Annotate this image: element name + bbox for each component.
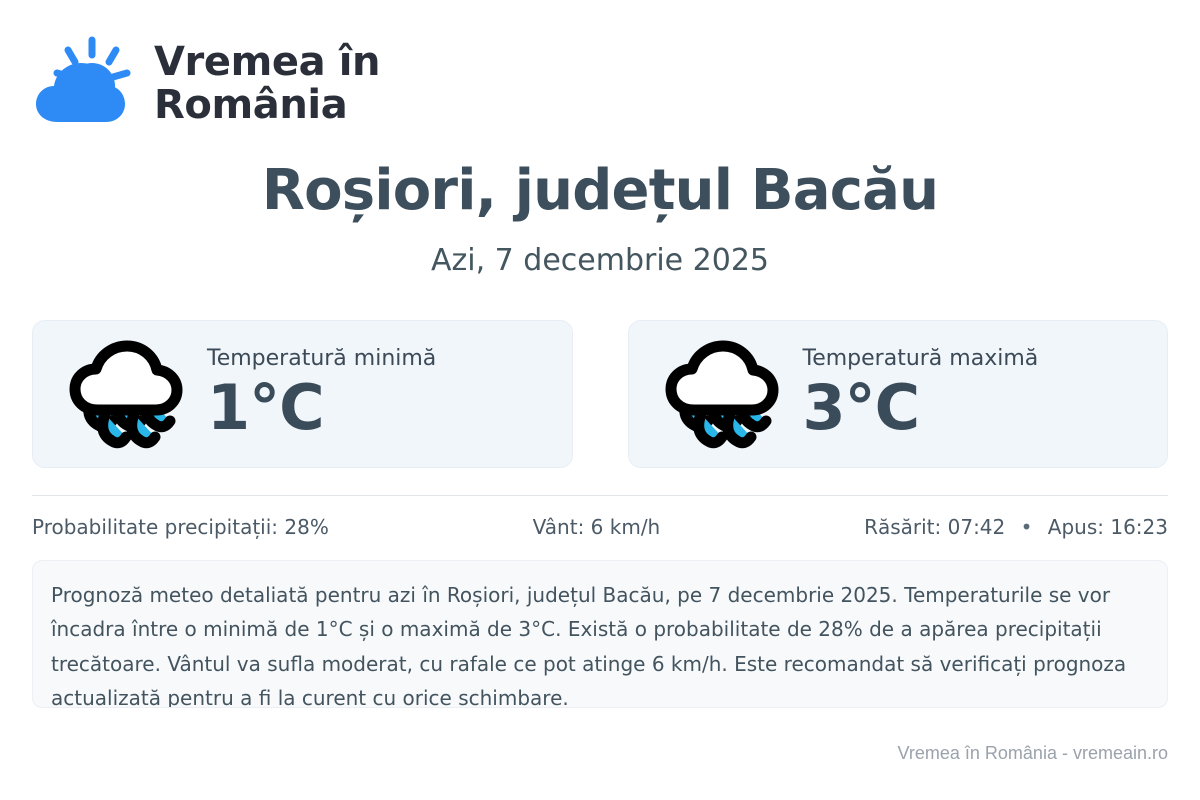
min-temperature-value: 1°C	[207, 375, 436, 442]
brand-name: Vremea în România	[154, 41, 380, 127]
max-temperature-label: Temperatură maximă	[803, 346, 1039, 372]
brand-header: Vremea în România	[32, 0, 1168, 120]
sun-separator: •	[1021, 515, 1033, 539]
wind-stat: Vânt: 6 km/h	[329, 515, 864, 539]
sunset-time: Apus: 16:23	[1048, 515, 1168, 539]
rain-cloud-icon	[663, 338, 781, 450]
temperature-cards: Temperatură minimă 1°C Temperatură maxim…	[32, 320, 1168, 468]
page-subtitle: Azi, 7 decembrie 2025	[32, 243, 1168, 278]
min-temperature-text: Temperatură minimă 1°C	[207, 346, 436, 441]
min-temperature-card: Temperatură minimă 1°C	[32, 320, 573, 468]
weather-page: Vremea în România Roșiori, județul Bacău…	[0, 0, 1200, 800]
sun-times-stat: Răsărit: 07:42 • Apus: 16:23	[864, 515, 1168, 539]
max-temperature-value: 3°C	[803, 375, 1039, 442]
section-divider	[32, 495, 1168, 496]
sunrise-time: Răsărit: 07:42	[864, 515, 1005, 539]
sun-behind-cloud-icon	[32, 36, 136, 132]
min-temperature-label: Temperatură minimă	[207, 346, 436, 372]
max-temperature-card: Temperatură maximă 3°C	[628, 320, 1169, 468]
rain-cloud-icon	[67, 338, 185, 450]
forecast-description: Prognoză meteo detaliată pentru azi în R…	[32, 560, 1168, 708]
page-title: Roșiori, județul Bacău	[32, 162, 1168, 221]
precipitation-stat: Probabilitate precipitații: 28%	[32, 515, 329, 539]
footer-attribution: Vremea în România - vremeain.ro	[898, 743, 1168, 764]
max-temperature-text: Temperatură maximă 3°C	[803, 346, 1039, 441]
weather-stats-row: Probabilitate precipitații: 28% Vânt: 6 …	[32, 515, 1168, 539]
